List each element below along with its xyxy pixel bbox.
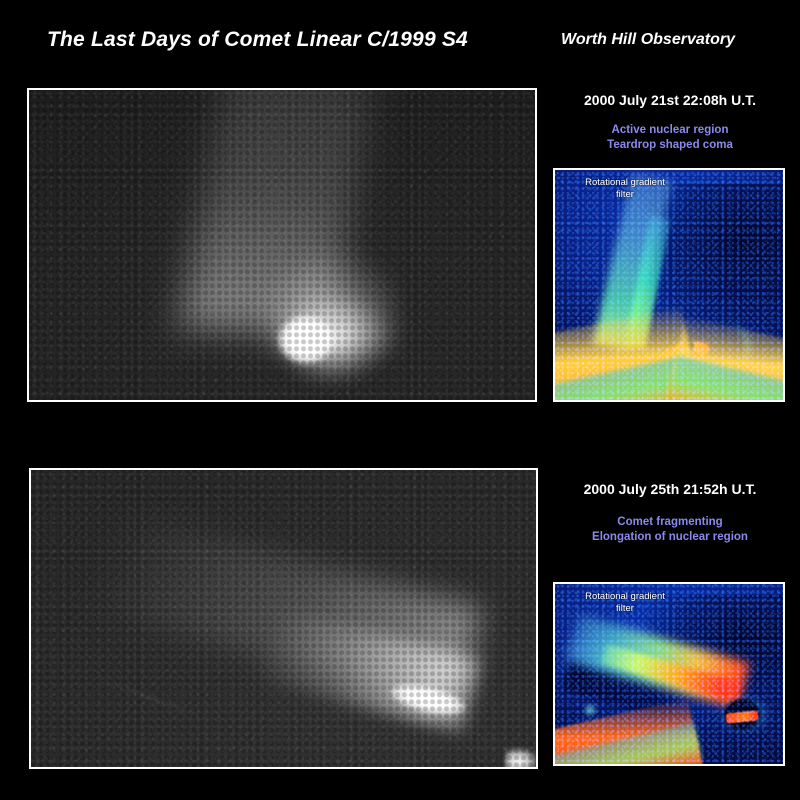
field-star: [506, 749, 536, 767]
photo-2-canvas: [31, 470, 536, 767]
inset-1-filter-label: Rotational gradient filter: [565, 177, 685, 201]
false-colour-noise: [553, 168, 785, 402]
panel-1-caption-line-1: Active nuclear region: [545, 123, 795, 138]
photo-1-canvas: [29, 90, 535, 400]
inset-2-filter-label-line-1: Rotational gradient: [565, 591, 685, 603]
inset-1-filter-label-line-1: Rotational gradient: [565, 177, 685, 189]
inset-2-filter-label-line-2: filter: [565, 603, 685, 615]
inset-1-filter-label-line-2: filter: [565, 189, 685, 201]
panel-2-datestamp: 2000 July 25th 21:52h U.T.: [545, 481, 795, 497]
comet-photo-2: [29, 468, 538, 769]
rotational-gradient-inset-1: Rotational gradient filter: [553, 168, 785, 402]
observatory-credit: Worth Hill Observatory: [561, 31, 735, 49]
page-title: The Last Days of Comet Linear C/1999 S4: [47, 28, 468, 52]
panel-2-caption-line-1: Comet fragmenting: [545, 515, 795, 530]
panel-1-caption-line-2: Teardrop shaped coma: [545, 138, 795, 153]
panel-2-caption: Comet fragmenting Elongation of nuclear …: [545, 515, 795, 545]
inset-2-filter-label: Rotational gradient filter: [565, 591, 685, 615]
panel-1-datestamp: 2000 July 21st 22:08h U.T.: [545, 92, 795, 108]
rotational-gradient-inset-2: Rotational gradient filter: [553, 582, 785, 766]
comet-photo-1: [27, 88, 537, 402]
panel-1-caption: Active nuclear region Teardrop shaped co…: [545, 123, 795, 153]
panel-2-caption-line-2: Elongation of nuclear region: [545, 530, 795, 545]
poster-root: The Last Days of Comet Linear C/1999 S4 …: [0, 0, 800, 800]
comet-nucleus: [279, 316, 332, 363]
